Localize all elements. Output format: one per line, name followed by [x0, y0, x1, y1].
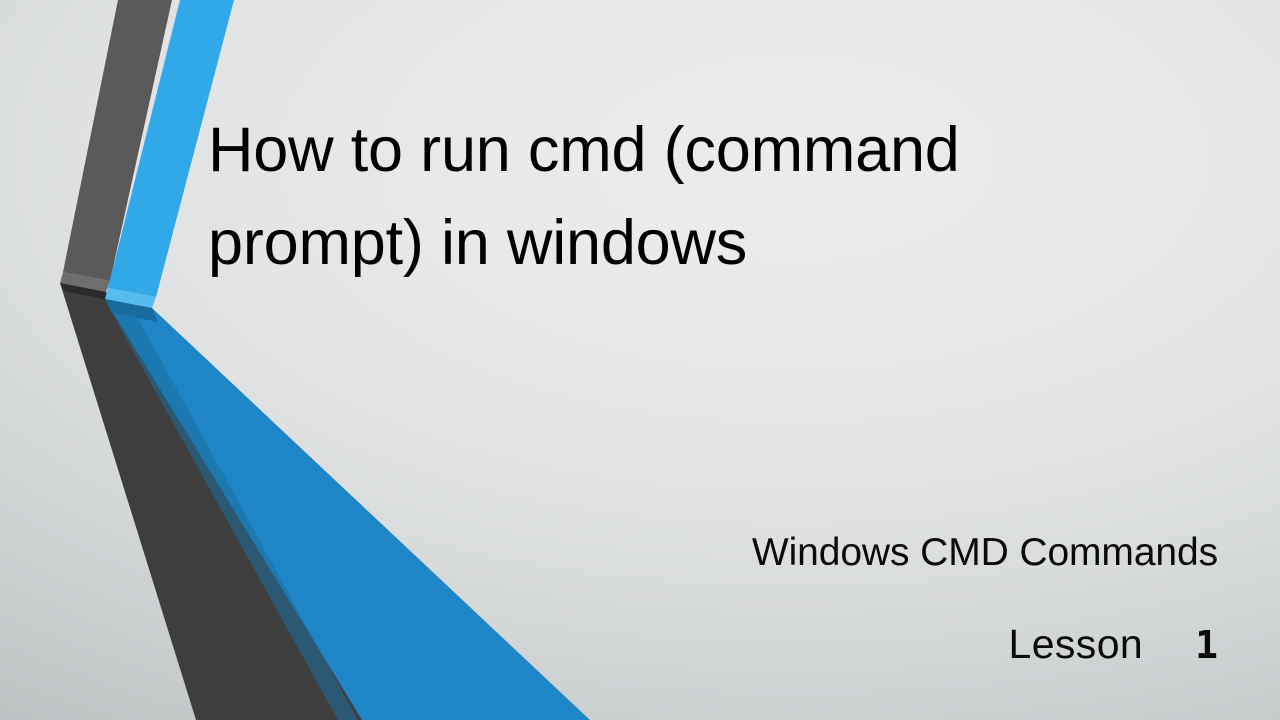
- slide-subtitle: Windows CMD Commands: [300, 528, 1218, 578]
- lesson-label: Lesson: [1009, 621, 1144, 667]
- slide-title-line-1: How to run cmd (command: [208, 104, 1218, 197]
- lesson-line: Lesson1: [300, 622, 1218, 667]
- slide-subtitle-block: Windows CMD Commands Lesson1: [300, 528, 1218, 667]
- slide-title: How to run cmd (command prompt) in windo…: [208, 104, 1218, 289]
- slide-canvas: How to run cmd (command prompt) in windo…: [0, 0, 1280, 720]
- slide-title-line-2: prompt) in windows: [208, 197, 1218, 290]
- lesson-number: 1: [1143, 623, 1218, 667]
- gray-chevron-upper-arm: [60, 0, 172, 292]
